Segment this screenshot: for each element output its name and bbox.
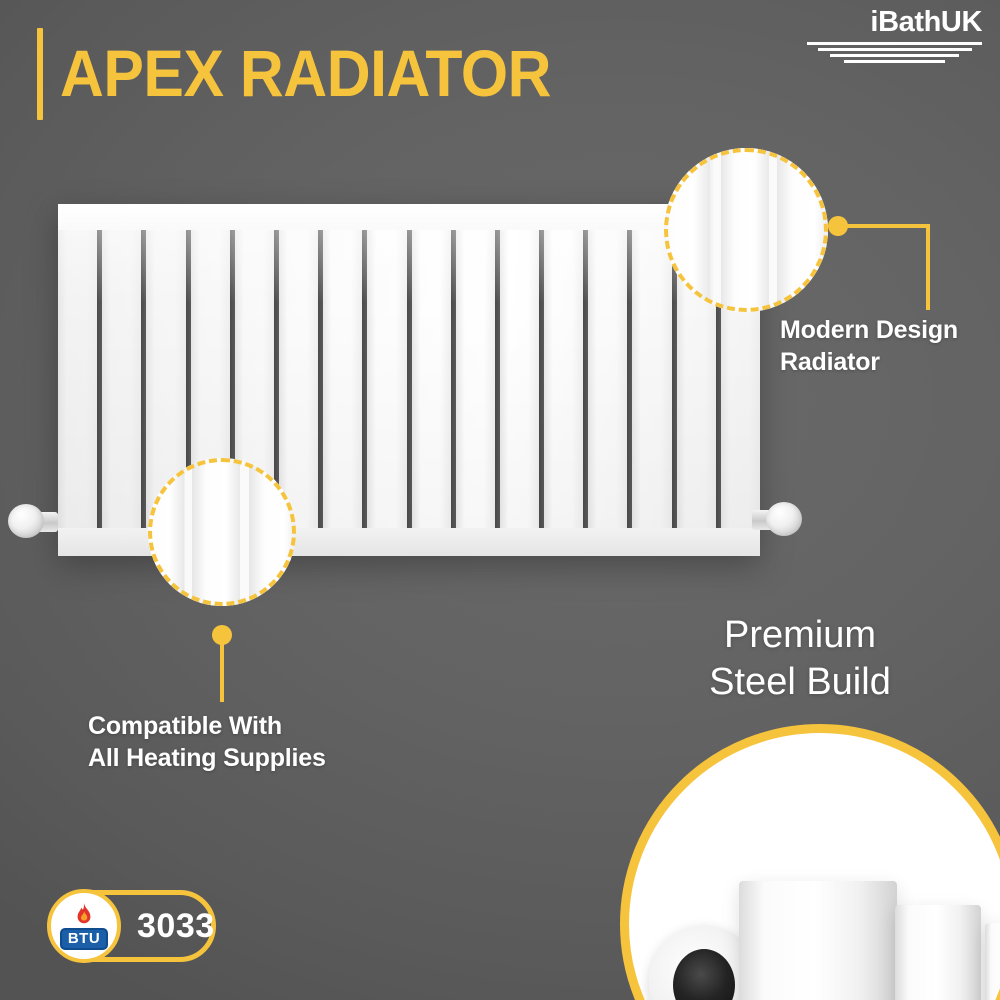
callout-compatible-supplies-line2: All Heating Supplies (88, 742, 418, 774)
btu-icon: BTU (47, 889, 121, 963)
btu-value: 3033 (137, 895, 215, 957)
logo-rule-3 (830, 54, 960, 57)
valve-knob (8, 504, 44, 538)
radiator-panel (412, 228, 451, 530)
magnifier-ring-compatible-supplies (148, 458, 296, 606)
leader-line-vertical-modern-design (926, 224, 930, 310)
closeup-panel-1 (739, 881, 897, 1000)
brand-logo: iBathUK (807, 8, 982, 63)
callout-modern-design: Modern Design Radiator (780, 314, 1000, 378)
radiator-top-header (58, 204, 760, 230)
flame-icon (73, 903, 95, 927)
logo-rule-4 (844, 60, 946, 63)
feature-premium-steel-build: Premium Steel Build (620, 612, 980, 706)
leader-line-horizontal-modern-design (846, 224, 930, 228)
logo-rule-1 (807, 42, 982, 45)
closeup-panel-3 (985, 923, 1000, 1000)
radiator-panel (58, 228, 97, 530)
radiator-port-closeup-art (629, 733, 1000, 1000)
callout-compatible-supplies: Compatible With All Heating Supplies (88, 710, 418, 774)
leader-line-compatible-supplies (220, 640, 224, 702)
valve-knob (766, 502, 802, 536)
brand-logo-rules (807, 42, 982, 63)
radiator-panel (102, 228, 141, 530)
callout-compatible-supplies-line1: Compatible With (88, 710, 418, 742)
radiator-panel (588, 228, 627, 530)
btu-badge: BTU 3033 (48, 890, 216, 962)
feature-closeup-circle (620, 724, 1000, 1000)
product-image-canvas: APEX RADIATOR iBathUK (0, 0, 1000, 1000)
radiator-valve-right (752, 494, 802, 546)
radiator-panel (500, 228, 539, 530)
callout-modern-design-line2: Radiator (780, 346, 1000, 378)
btu-label: BTU (60, 928, 108, 950)
feature-line1: Premium (620, 612, 980, 659)
brand-logo-text: iBathUK (807, 8, 982, 37)
radiator-panel (456, 228, 495, 530)
magnifier-ring-modern-design (664, 148, 828, 312)
logo-rule-2 (818, 48, 972, 51)
radiator-panel (544, 228, 583, 530)
radiator-valve-left (8, 496, 58, 548)
title-accent-bar (37, 28, 43, 120)
closeup-panel-2 (895, 905, 981, 1000)
radiator-panel (323, 228, 362, 530)
leader-dot-modern-design (828, 216, 848, 236)
callout-modern-design-line1: Modern Design (780, 314, 1000, 346)
page-title: APEX RADIATOR (60, 27, 551, 119)
radiator-panel (367, 228, 406, 530)
feature-line2: Steel Build (620, 659, 980, 706)
